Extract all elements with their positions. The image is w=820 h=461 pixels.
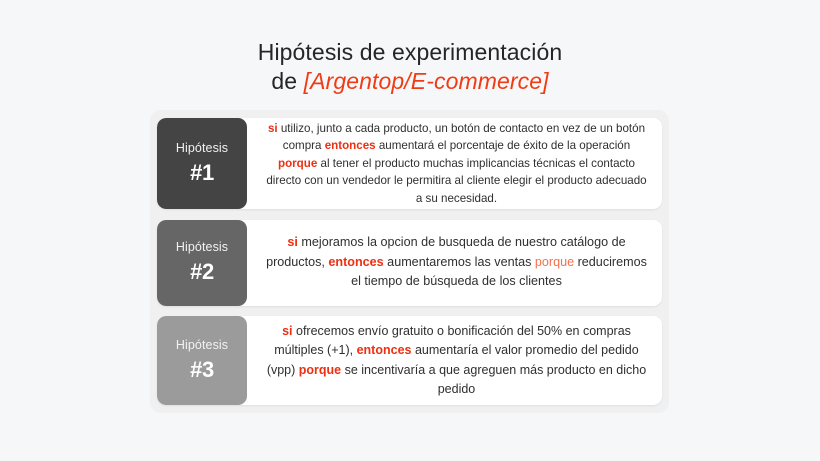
hypothesis-body-2: si mejoramos la opcion de busqueda de nu… (247, 220, 662, 306)
hypothesis-badge-number: #2 (190, 259, 214, 285)
page-title-prefix: de (271, 68, 303, 94)
page-title: Hipótesis de experimentación de [Argento… (0, 38, 820, 97)
page-title-line-1: Hipótesis de experimentación (0, 38, 820, 67)
hypothesis-text: si ofrecemos envío gratuito o bonificaci… (265, 322, 648, 400)
hypothesis-badge-3: Hipótesis #3 (157, 316, 247, 405)
text-run: se incentivaría a que agreguen más produ… (341, 363, 646, 396)
keyword-strong: si (268, 122, 278, 135)
page-title-accent: [Argentop/E-commerce] (304, 68, 549, 94)
hypothesis-badge-label: Hipótesis (176, 240, 228, 254)
hypothesis-badge-number: #1 (190, 160, 214, 186)
keyword-strong: entonces (325, 139, 376, 152)
hypothesis-badge-1: Hipótesis #1 (157, 118, 247, 209)
keyword-strong: porque (278, 157, 317, 170)
hypothesis-body-1: si utilizo, junto a cada producto, un bo… (247, 118, 662, 209)
hypothesis-badge-label: Hipótesis (176, 338, 228, 352)
hypothesis-badge-2: Hipótesis #2 (157, 220, 247, 306)
hypothesis-text: si mejoramos la opcion de busqueda de nu… (265, 233, 648, 292)
keyword-strong: entonces (357, 343, 412, 357)
hypotheses-panel: Hipótesis #1 si utilizo, junto a cada pr… (150, 110, 669, 413)
slide-root: Hipótesis de experimentación de [Argento… (0, 0, 820, 461)
hypothesis-text: si utilizo, junto a cada producto, un bo… (265, 120, 648, 207)
text-run: al tener el producto muchas implicancias… (266, 157, 646, 205)
text-run: aumentaremos las ventas (384, 255, 535, 269)
keyword-strong: si (282, 324, 292, 338)
hypothesis-card-2[interactable]: Hipótesis #2 si mejoramos la opcion de b… (157, 220, 662, 306)
text-run: aumentará el porcentaje de éxito de la o… (376, 139, 631, 152)
hypothesis-badge-number: #3 (190, 357, 214, 383)
keyword-soft: porque (535, 255, 574, 269)
keyword-strong: porque (299, 363, 341, 377)
hypothesis-card-1[interactable]: Hipótesis #1 si utilizo, junto a cada pr… (157, 118, 662, 209)
hypothesis-badge-label: Hipótesis (176, 141, 228, 155)
hypothesis-body-3: si ofrecemos envío gratuito o bonificaci… (247, 316, 662, 405)
keyword-strong: si (287, 235, 298, 249)
page-title-line-2: de [Argentop/E-commerce] (0, 67, 820, 96)
hypothesis-card-3[interactable]: Hipótesis #3 si ofrecemos envío gratuito… (157, 316, 662, 405)
keyword-strong: entonces (328, 255, 383, 269)
